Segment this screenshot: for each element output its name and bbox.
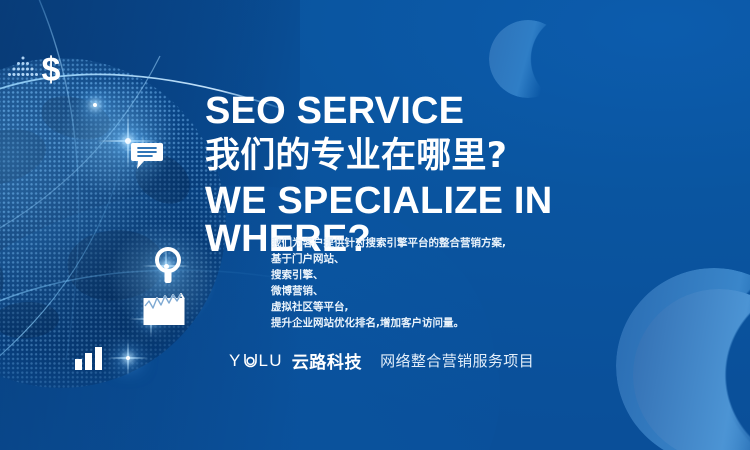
logo-text-b: LU: [259, 351, 283, 371]
bar-chart-icon: [74, 346, 104, 370]
footer-tagline: 网络整合营销服务项目: [380, 350, 534, 371]
body-line: 搜索引擎、: [271, 268, 691, 284]
line-chart-panel-icon: [143, 292, 185, 326]
svg-text:$: $: [42, 51, 61, 89]
headline-line-2: 我们的专业在哪里?: [205, 139, 725, 174]
logo-text-a: Y: [229, 351, 242, 371]
body-line: 提升企业网站优化排名,增加客户访问量。: [271, 316, 691, 332]
body-line: 虚拟社区等平台,: [271, 300, 691, 316]
body-line: 微博营销、: [271, 284, 691, 300]
search-magnifier-icon: [152, 246, 184, 286]
dotted-pyramid-icon: [6, 55, 40, 79]
body-line: 基于门户网站、: [271, 252, 691, 268]
body-line: 我们为客户提供针对搜索引擎平台的整合营销方案,: [271, 236, 691, 252]
dollar-icon: $: [36, 50, 66, 90]
chat-bubble-icon: [130, 140, 164, 170]
dotted-globe: [0, 58, 226, 388]
logo-u-circle-icon: [243, 352, 258, 369]
logo-wordmark: Y LU: [229, 351, 283, 371]
brand-name-cn: 云路科技: [292, 348, 362, 373]
headline-block: SEO SERVICE 我们的专业在哪里? WE SPECIALIZE IN W…: [205, 92, 725, 258]
footer-logo-row: Y LU 云路科技 网络整合营销服务项目: [229, 348, 534, 373]
headline-line-1: SEO SERVICE: [205, 92, 725, 130]
poster-canvas: $ SEO SER: [0, 0, 750, 450]
body-copy: 我们为客户提供针对搜索引擎平台的整合营销方案, 基于门户网站、 搜索引擎、 微博…: [271, 236, 691, 331]
